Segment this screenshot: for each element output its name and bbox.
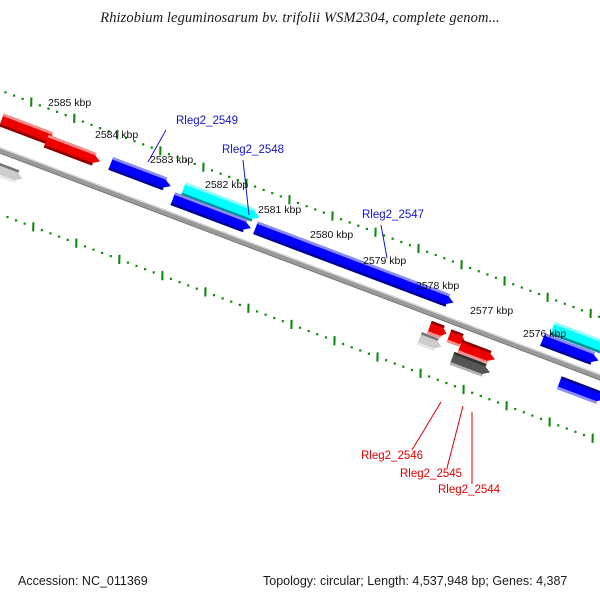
- ruler-dot: [265, 314, 267, 316]
- ruler-dot: [178, 281, 180, 283]
- ruler-tick-label: 2581 kbp: [258, 204, 301, 216]
- ruler-tick-label: 2576 kbp: [523, 328, 566, 340]
- ruler-dot: [222, 297, 224, 299]
- gene-label-leader: [447, 406, 463, 468]
- gene-label[interactable]: Rleg2_2544: [438, 484, 501, 496]
- ruler-dot: [531, 414, 533, 416]
- accession-text: Accession: NC_011369: [18, 574, 148, 588]
- ruler-dot: [400, 241, 402, 243]
- ruler-dot: [514, 408, 516, 410]
- ruler-dot: [39, 104, 41, 106]
- ruler-dot: [443, 257, 445, 259]
- ruler-dot: [521, 286, 523, 288]
- ruler-dot: [308, 330, 310, 332]
- ruler-dot: [211, 169, 213, 171]
- axis-layer: [0, 140, 600, 388]
- ruler-dot: [340, 218, 342, 220]
- ruler-dot: [454, 385, 456, 387]
- ruler-tick-label: 2579 kbp: [363, 255, 406, 267]
- status-bar: Accession: NC_011369 Topology: circular;…: [0, 566, 600, 600]
- ruler-dot: [368, 353, 370, 355]
- genome-map-canvas[interactable]: 2585 kbp2584 kbp2583 kbp2582 kbp2581 kbp…: [0, 0, 600, 600]
- ruler-dot: [349, 221, 351, 223]
- ruler-dot: [357, 225, 359, 227]
- ruler-dot: [13, 94, 15, 96]
- ruler-tick-label: 2580 kbp: [310, 229, 353, 241]
- ruler-dot: [564, 303, 566, 305]
- ruler-dot: [282, 320, 284, 322]
- ruler-dot: [153, 271, 155, 273]
- gene-arrow[interactable]: [44, 135, 100, 166]
- ruler-tick-label: 2578 kbp: [416, 280, 459, 292]
- ruler-dot: [342, 343, 344, 345]
- ruler-dot: [495, 277, 497, 279]
- tick-label-layer: 2585 kbp2584 kbp2583 kbp2582 kbp2581 kbp…: [48, 97, 566, 340]
- ruler-dot: [428, 375, 430, 377]
- ruler-dot: [402, 366, 404, 368]
- ruler-dot: [22, 98, 24, 100]
- ruler-dot: [488, 398, 490, 400]
- ruler-dot: [213, 294, 215, 296]
- ruler-dot: [325, 336, 327, 338]
- gene-layer[interactable]: [0, 114, 600, 404]
- ruler-dot: [82, 121, 84, 123]
- ruler-dot: [471, 392, 473, 394]
- backbone-shadow: [0, 144, 600, 387]
- ruler-dot: [435, 254, 437, 256]
- ruler-dot: [409, 244, 411, 246]
- ruler-dot: [92, 249, 94, 251]
- ruler-dot: [385, 359, 387, 361]
- ruler-dot: [230, 301, 232, 303]
- ruler-dot: [566, 427, 568, 429]
- ruler-dot: [67, 239, 69, 241]
- ruler-dot: [90, 124, 92, 126]
- ruler-dot: [6, 216, 8, 218]
- gene-label[interactable]: Rleg2_2548: [222, 144, 284, 156]
- ruler-dot: [110, 255, 112, 257]
- gene-arrow[interactable]: [253, 221, 453, 306]
- ruler-dot: [523, 411, 525, 413]
- gene-label-layer[interactable]: Rleg2_2549Rleg2_2548Rleg2_2547Rleg2_2546…: [176, 115, 501, 496]
- ruler-dot: [56, 111, 58, 113]
- ruler-dot: [583, 434, 585, 436]
- ruler-dot: [366, 228, 368, 230]
- ruler-dot: [280, 195, 282, 197]
- ruler-dot: [263, 189, 265, 191]
- ruler-tick-label: 2585 kbp: [48, 97, 91, 109]
- ruler-dot: [101, 252, 103, 254]
- genome-viewer[interactable]: Rhizobium leguminosarum bv. trifolii WSM…: [0, 0, 600, 600]
- ruler-dot: [478, 270, 480, 272]
- ruler-tick-label: 2584 kbp: [95, 129, 138, 141]
- ruler-dot: [196, 288, 198, 290]
- ruler-dot: [497, 401, 499, 403]
- ruler-dot: [411, 369, 413, 371]
- ruler-tick-label: 2583 kbp: [150, 154, 193, 166]
- gene-label-leader: [381, 225, 387, 258]
- ruler-dot: [15, 219, 17, 221]
- ruler-dot: [394, 362, 396, 364]
- gene-label[interactable]: Rleg2_2546: [361, 450, 423, 462]
- ruler-dot: [170, 278, 172, 280]
- ruler-dot: [49, 232, 51, 234]
- ruler-dot: [239, 304, 241, 306]
- ruler-dot: [540, 418, 542, 420]
- ruler-dot: [426, 251, 428, 253]
- ruler-dot: [574, 431, 576, 433]
- ruler-dot: [557, 424, 559, 426]
- ruler-dot: [4, 91, 6, 93]
- ruler-dot: [572, 306, 574, 308]
- ruler-dot: [359, 349, 361, 351]
- ruler-dot: [84, 245, 86, 247]
- gene-label[interactable]: Rleg2_2545: [400, 468, 462, 480]
- ruler-dot: [351, 346, 353, 348]
- gene-shadow: [253, 232, 446, 307]
- ruler-dot: [41, 229, 43, 231]
- ruler-dot: [299, 327, 301, 329]
- ruler-dot: [512, 283, 514, 285]
- ruler-dot: [220, 173, 222, 175]
- gene-arrow[interactable]: [0, 157, 23, 183]
- ruler-dot: [58, 236, 60, 238]
- ruler-dot: [480, 395, 482, 397]
- ruler-dot: [142, 143, 144, 145]
- ruler-dot: [135, 265, 137, 267]
- ruler-dot: [273, 317, 275, 319]
- ruler-dot: [555, 299, 557, 301]
- backbone-line: [0, 141, 600, 386]
- ruler-dot: [529, 290, 531, 292]
- ruler-dot: [392, 238, 394, 240]
- ruler-dot: [306, 205, 308, 207]
- gene-body[interactable]: [253, 221, 453, 305]
- ruler-below: [0, 187, 600, 449]
- ruler-dot: [437, 379, 439, 381]
- ruler-dot: [65, 114, 67, 116]
- ruler-dot: [445, 382, 447, 384]
- ruler-dot: [469, 267, 471, 269]
- ruler-dot: [187, 284, 189, 286]
- ruler-dot: [144, 268, 146, 270]
- ruler-dot: [538, 293, 540, 295]
- gene-label-leader: [412, 402, 441, 450]
- gene-arrow[interactable]: [557, 376, 600, 404]
- ruler-dot: [24, 223, 26, 225]
- gene-label[interactable]: Rleg2_2549: [176, 115, 238, 127]
- ruler-dot: [314, 208, 316, 210]
- ruler-dot: [581, 309, 583, 311]
- ruler-dot: [194, 163, 196, 165]
- ruler-dot: [151, 147, 153, 149]
- ruler-dot: [316, 333, 318, 335]
- ruler-dot: [271, 192, 273, 194]
- gene-label[interactable]: Rleg2_2547: [362, 209, 424, 221]
- ruler-dot: [256, 310, 258, 312]
- ruler-dot: [254, 186, 256, 188]
- ruler-tick-label: 2582 kbp: [205, 179, 248, 191]
- ruler-dot: [323, 212, 325, 214]
- topology-text: Topology: circular; Length: 4,537,948 bp…: [263, 574, 567, 588]
- ruler-dot: [127, 262, 129, 264]
- ruler-dot: [452, 260, 454, 262]
- ruler-dot: [486, 273, 488, 275]
- ruler-dot: [228, 176, 230, 178]
- ruler-tick-label: 2577 kbp: [470, 305, 513, 317]
